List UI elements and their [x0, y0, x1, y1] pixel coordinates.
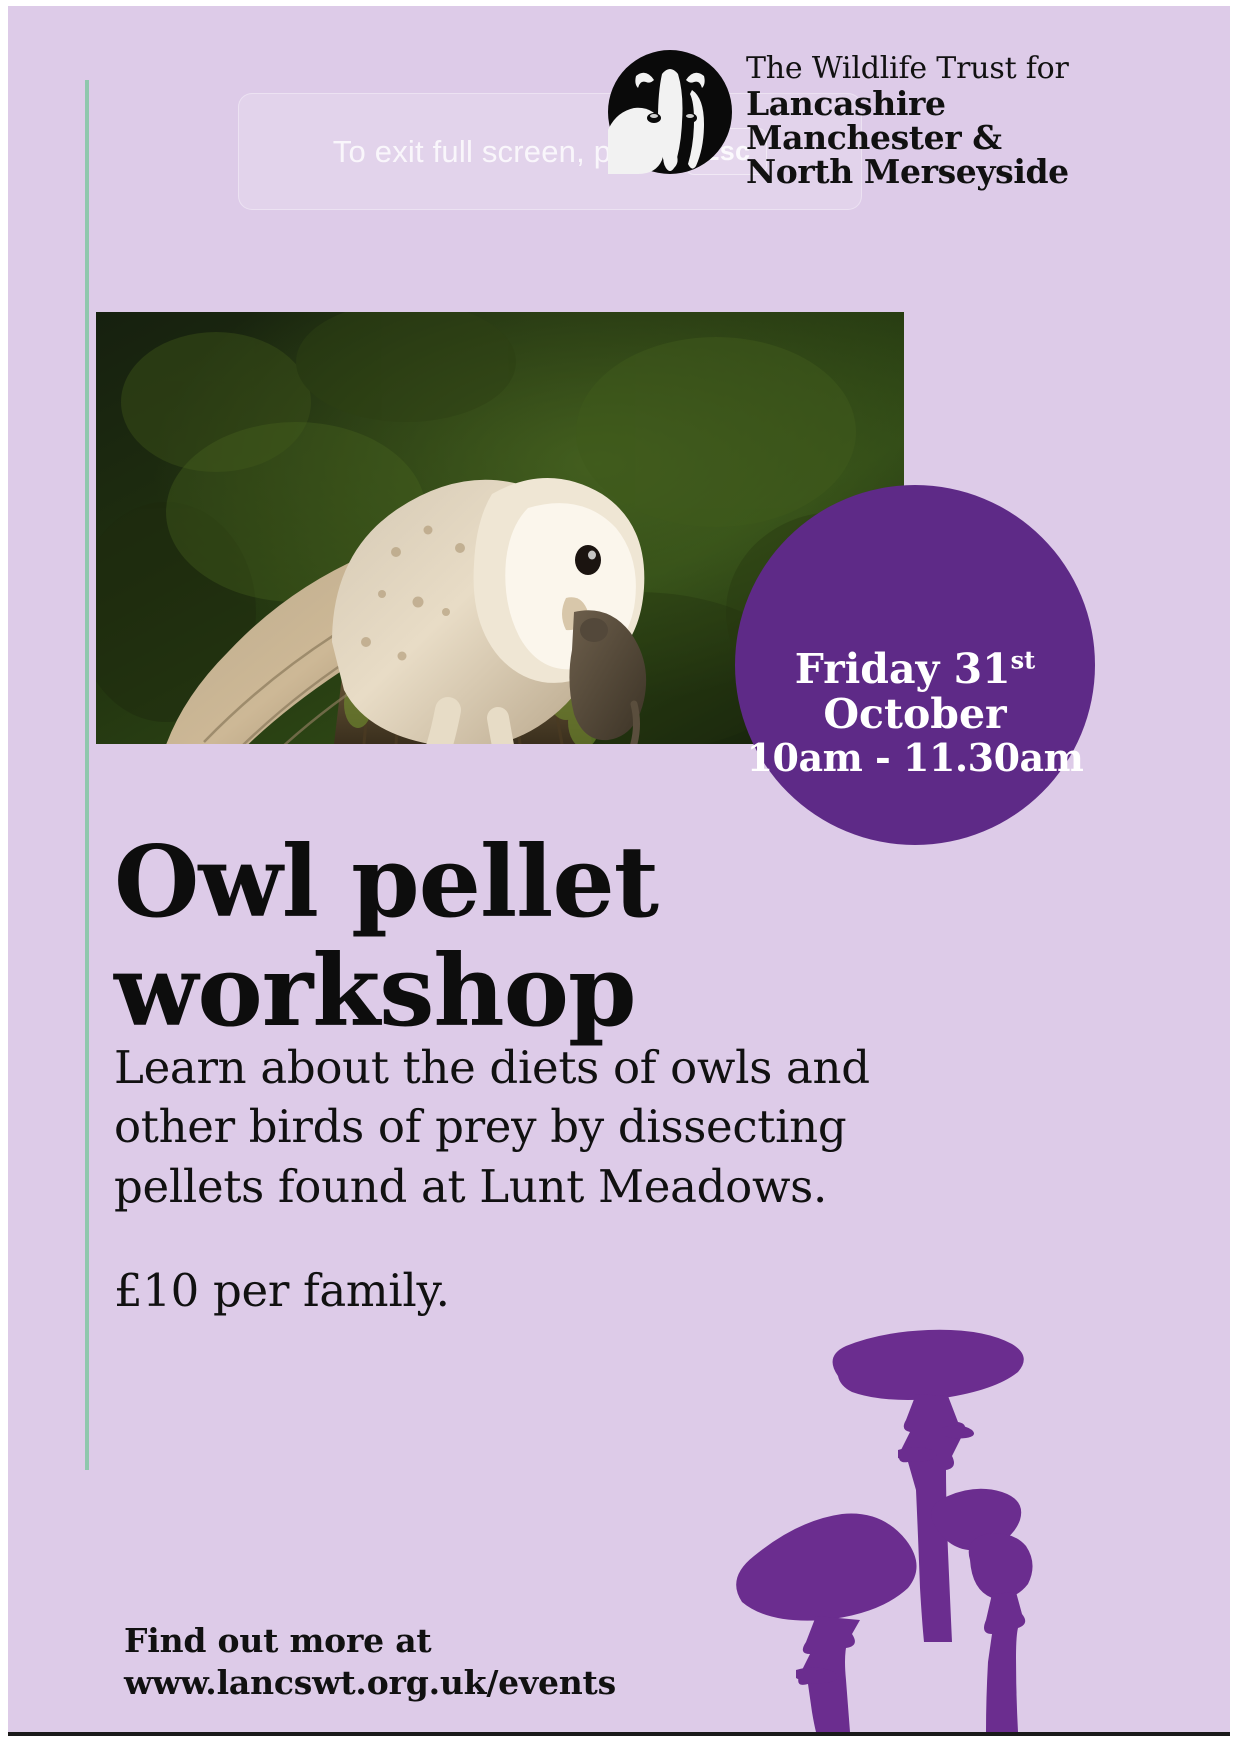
footer-line-1: Find out more at — [124, 1620, 616, 1662]
date-day-text: Friday 31 — [795, 645, 1011, 693]
footer-url[interactable]: www.lancswt.org.uk/events — [124, 1662, 616, 1704]
page-title: Owl pellet workshop — [114, 828, 794, 1048]
headline-line-1: Owl pellet — [114, 825, 658, 940]
event-poster: Friday 31st October 10am - 11.30am Owl p… — [0, 0, 1240, 1754]
footer-contact: Find out more at www.lancswt.org.uk/even… — [124, 1620, 616, 1704]
badger-icon — [608, 50, 732, 174]
page-edge-right — [1230, 0, 1240, 1754]
mushrooms-icon — [720, 1302, 1050, 1732]
event-description: Learn about the diets of owls and other … — [114, 1038, 984, 1216]
date-time: 10am - 11.30am — [747, 737, 1084, 779]
date-ordinal: st — [1011, 645, 1036, 674]
logo-line-4: North Merseyside — [746, 155, 1069, 188]
page-bottom-rule — [8, 1732, 1230, 1736]
page-edge-top — [0, 0, 1240, 6]
wildlife-trust-logo: The Wildlife Trust for Lancashire Manche… — [608, 50, 1069, 188]
logo-wordmark: The Wildlife Trust for Lancashire Manche… — [746, 50, 1069, 188]
logo-line-2: Lancashire — [746, 87, 1069, 120]
headline-line-2: workshop — [114, 934, 636, 1049]
date-day: Friday 31st — [795, 647, 1036, 692]
date-badge: Friday 31st October 10am - 11.30am — [735, 485, 1095, 845]
page-edge-bottom — [0, 1736, 1240, 1754]
logo-line-1: The Wildlife Trust for — [746, 54, 1069, 84]
date-month: October — [823, 692, 1006, 737]
event-price: £10 per family. — [114, 1264, 450, 1317]
page-edge-left — [0, 0, 8, 1754]
logo-line-3: Manchester & — [746, 121, 1069, 154]
vertical-accent-rule — [85, 80, 89, 1470]
